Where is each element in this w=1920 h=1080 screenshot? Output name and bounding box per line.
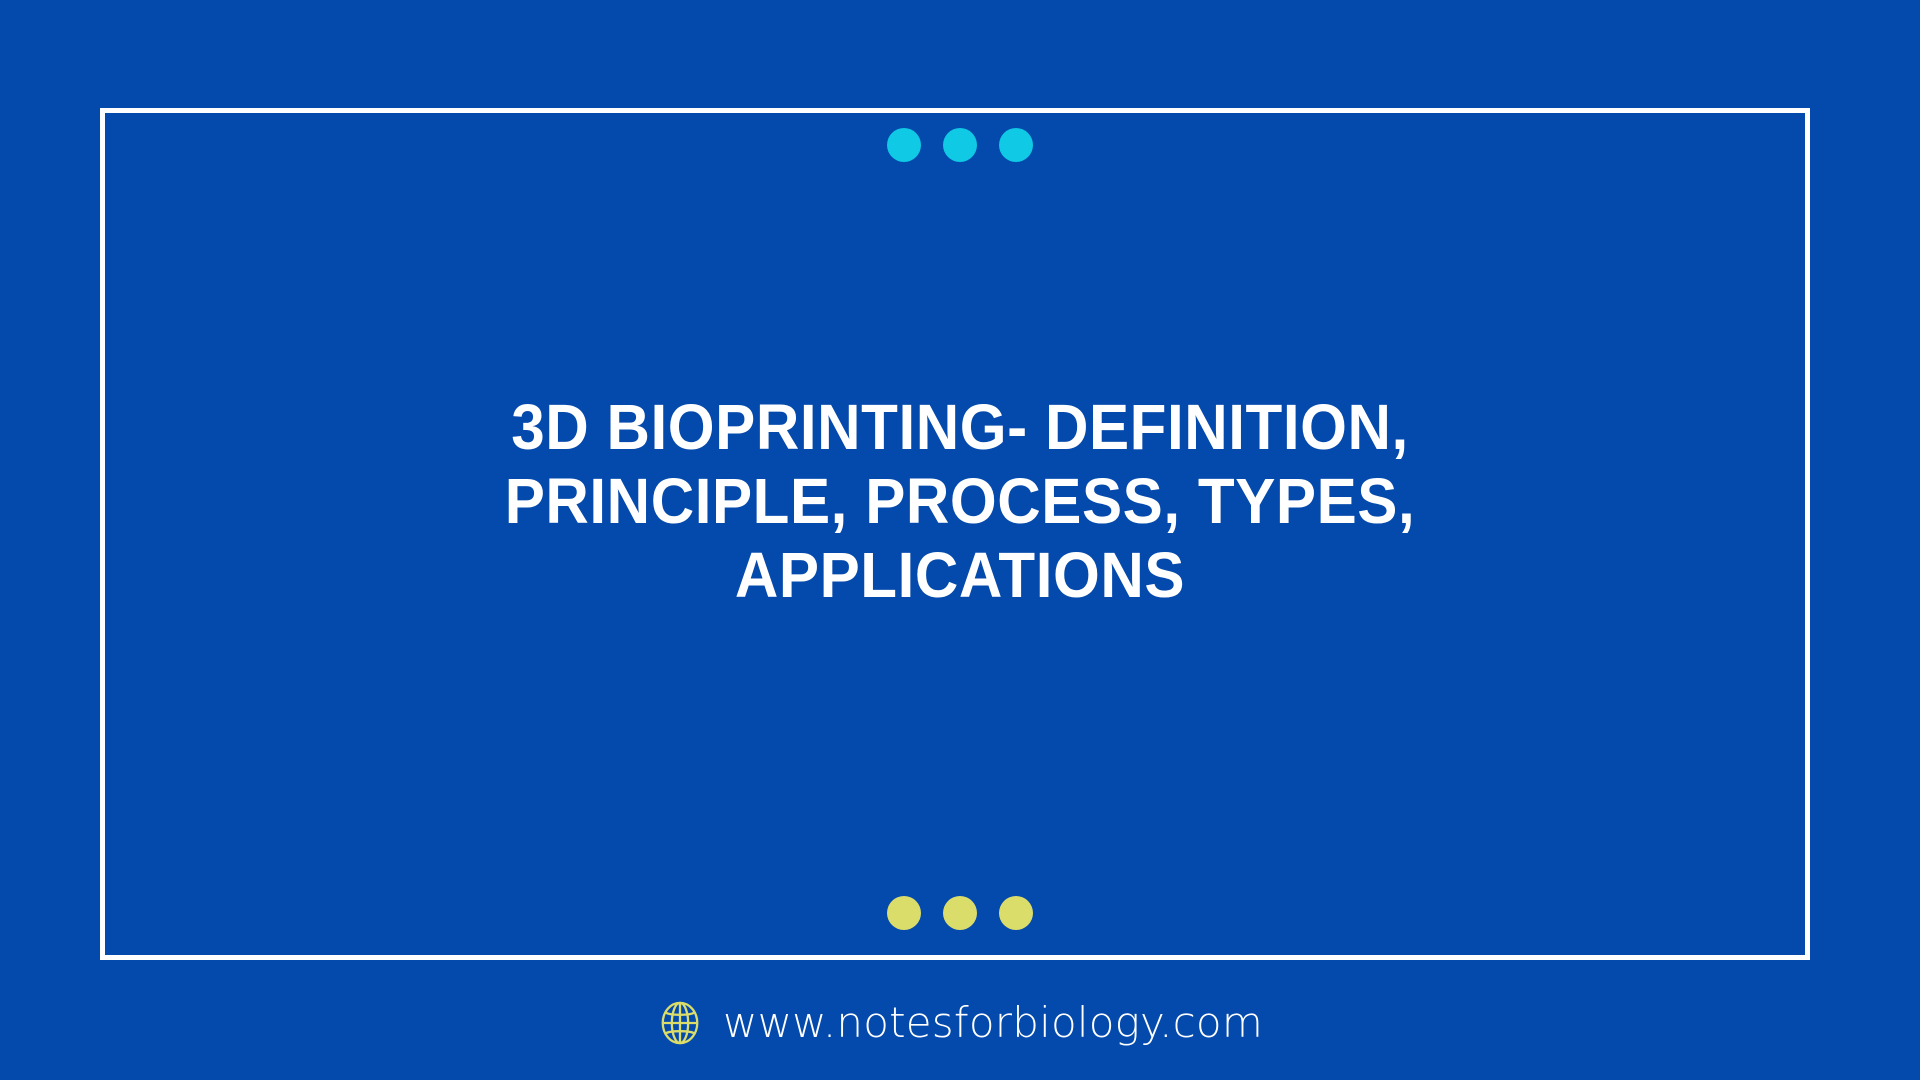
- page-title: 3D BIOPRINTING- DEFINITION, PRINCIPLE, P…: [199, 390, 1722, 613]
- top-dot-row: [0, 128, 1920, 162]
- footer: www.notesforbiology.com: [0, 988, 1920, 1058]
- slide-canvas: 3D BIOPRINTING- DEFINITION, PRINCIPLE, P…: [0, 0, 1920, 1080]
- footer-url-text: www.notesforbiology.com: [723, 1002, 1263, 1044]
- dot-icon: [943, 896, 977, 930]
- title-block: 3D BIOPRINTING- DEFINITION, PRINCIPLE, P…: [150, 390, 1770, 613]
- globe-icon: [657, 1000, 703, 1046]
- dot-icon: [999, 896, 1033, 930]
- title-line-3: APPLICATIONS: [199, 538, 1722, 612]
- title-line-1: 3D BIOPRINTING- DEFINITION,: [199, 390, 1722, 464]
- dot-icon: [887, 128, 921, 162]
- bottom-dot-row: [0, 896, 1920, 930]
- dot-icon: [943, 128, 977, 162]
- dot-icon: [887, 896, 921, 930]
- title-line-2: PRINCIPLE, PROCESS, TYPES,: [199, 464, 1722, 538]
- dot-icon: [999, 128, 1033, 162]
